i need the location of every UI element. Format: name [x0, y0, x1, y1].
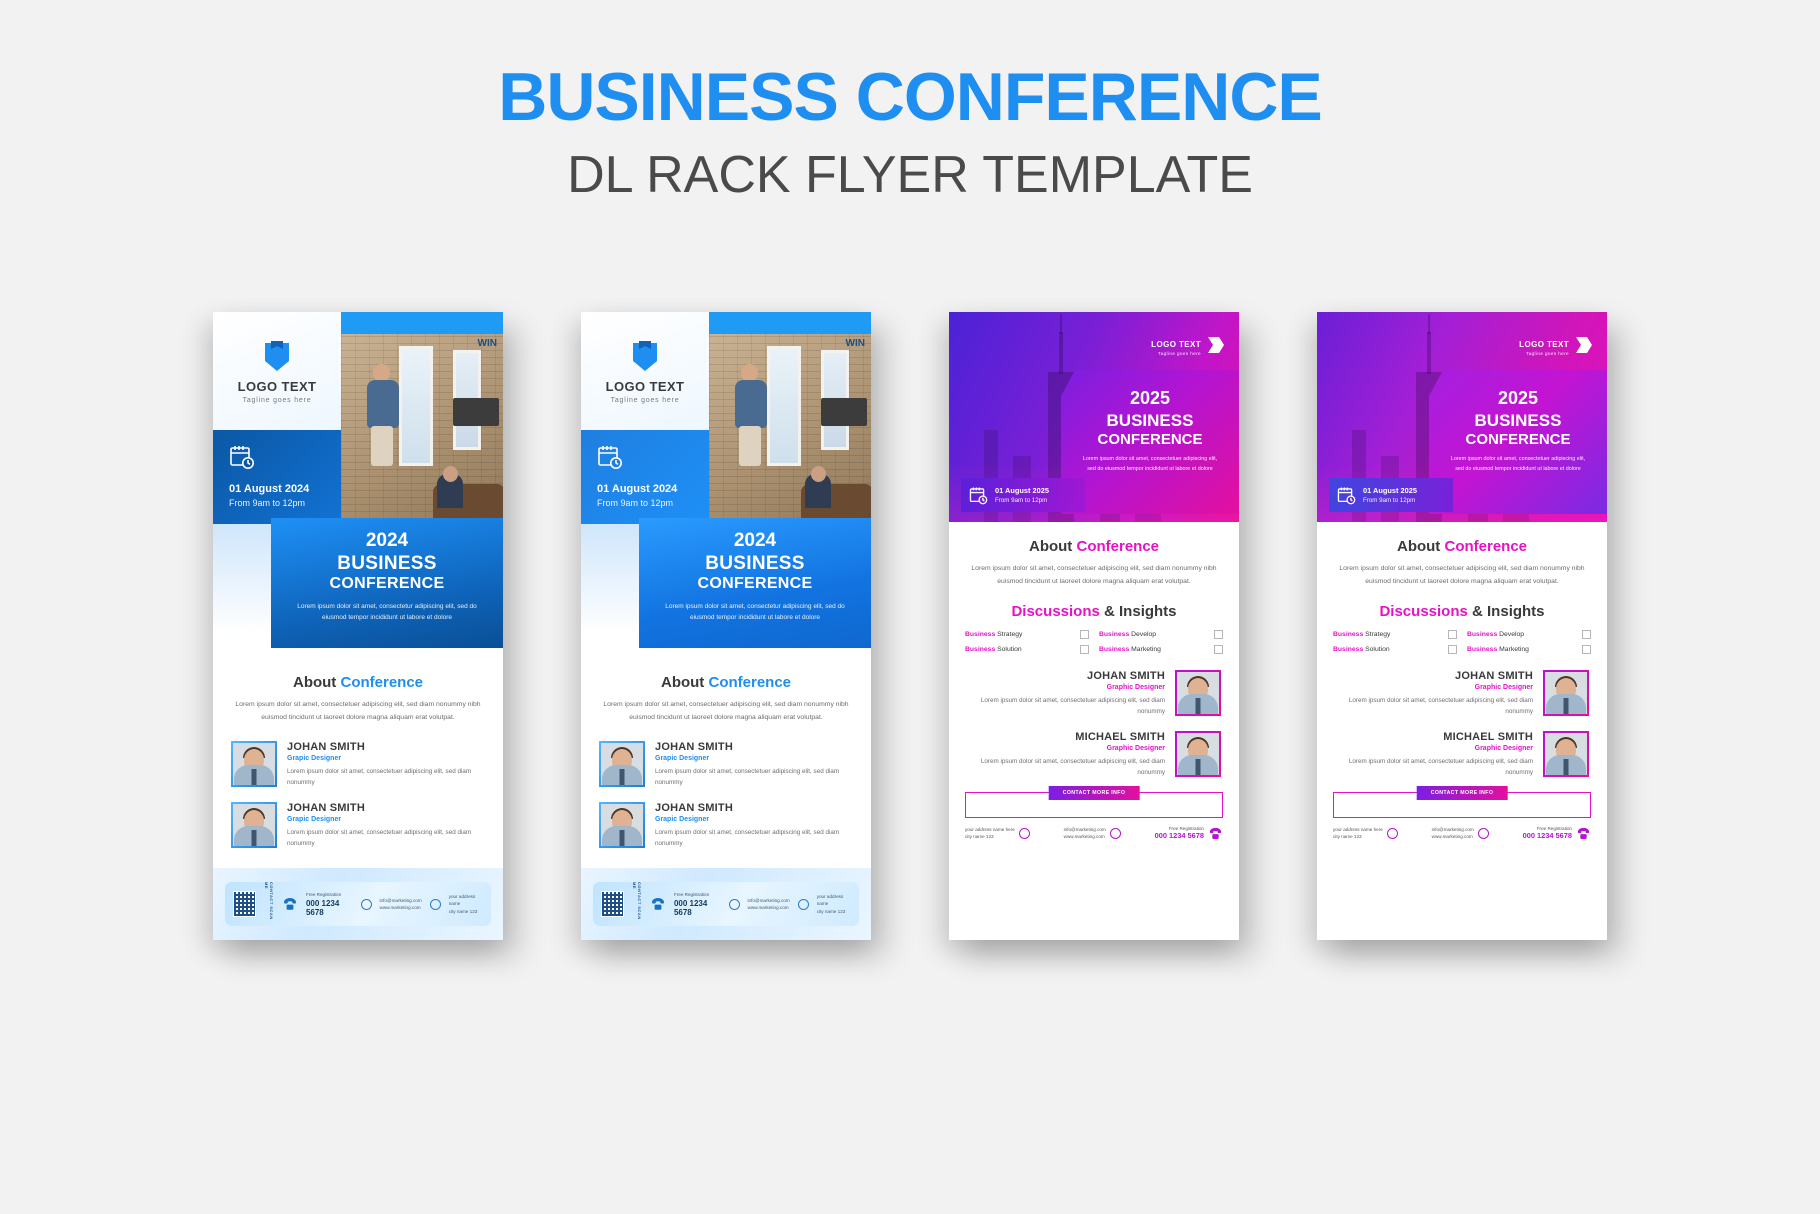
- date-panel: 01 August 2025 From 9am to 12pm: [1329, 478, 1453, 512]
- avatar: [599, 802, 645, 848]
- discussion-bold: Business: [1467, 631, 1497, 638]
- phone-icon: [1576, 826, 1591, 841]
- page-header: BUSINESS CONFERENCE DL RACK FLYER TEMPLA…: [0, 0, 1820, 205]
- discussion-chip-icon: [1448, 645, 1457, 654]
- speakers-list: JOHAN SMITH Graphic Designer Lorem ipsum…: [949, 670, 1239, 778]
- blue-footer: CONTACT SCAN ME Free Registration 000 12…: [213, 868, 503, 940]
- speakers-list: JOHAN SMITH Grapic Designer Lorem ipsum …: [581, 741, 871, 849]
- conference-photo: WIN: [709, 312, 871, 526]
- logo-text: LOGO TEXT: [1519, 340, 1569, 349]
- hero-paragraph: Lorem ipsum dolor sit amet, consectetuer…: [1079, 455, 1221, 474]
- avatar: [1175, 731, 1221, 777]
- discussions-title: Discussions & Insights: [1333, 603, 1591, 620]
- discussion-chip-icon: [1582, 645, 1591, 654]
- logo-icon: [261, 339, 293, 373]
- phone-block: Free Registration 000 1234 5678: [1523, 826, 1591, 841]
- speaker-role: Graphic Designer: [1335, 745, 1533, 752]
- footer-address-2: city name 123: [817, 908, 851, 915]
- discussions-title: Discussions & Insights: [965, 603, 1223, 620]
- discussion-item[interactable]: Business Solution: [1333, 645, 1457, 654]
- logo-panel: LOGO TEXT Tagline goes here: [213, 312, 341, 430]
- discussion-item[interactable]: Business Strategy: [1333, 630, 1457, 639]
- email-block: info@marketing.com www.marketing.com: [1064, 826, 1121, 841]
- event-date: 01 August 2024: [229, 483, 341, 495]
- flyer-purple-1[interactable]: LOGO TEXT Tagline goes here 2025 BUSINES…: [949, 312, 1239, 940]
- speaker-name: JOHAN SMITH: [287, 802, 485, 814]
- logo-panel: LOGO TEXT Tagline goes here: [581, 312, 709, 430]
- about-section: About Conference Lorem ipsum dolor sit a…: [949, 538, 1239, 589]
- discussion-bold: Business: [1333, 646, 1363, 653]
- speaker-desc: Lorem ipsum dolor sit amet, consectetuer…: [287, 766, 485, 788]
- footer-website[interactable]: www.marketing.com: [1432, 833, 1474, 840]
- speaker-card: MICHAEL SMITH Graphic Designer Lorem ips…: [1335, 731, 1589, 778]
- logo-tagline: Tagline goes here: [243, 397, 312, 404]
- contact-more-info-button[interactable]: CONTACT MORE INFO: [1049, 786, 1140, 800]
- about-title-black: About: [1397, 538, 1440, 555]
- hero-paragraph: Lorem ipsum dolor sit amet, consectetur …: [287, 601, 487, 624]
- calendar-clock-icon: [597, 457, 623, 474]
- footer-address-1: your address name: [449, 893, 483, 908]
- event-date: 01 August 2025: [1363, 486, 1417, 495]
- discussions-title-black: & Insights: [1104, 603, 1177, 620]
- discussion-rest: Develop: [1497, 631, 1524, 638]
- about-paragraph: Lorem ipsum dolor sit amet, consectetuer…: [597, 699, 855, 725]
- speaker-role: Graphic Designer: [967, 745, 1165, 752]
- discussion-bold: Business: [1099, 646, 1129, 653]
- speaker-card: JOHAN SMITH Graphic Designer Lorem ipsum…: [967, 670, 1221, 717]
- date-panel: 01 August 2024 From 9am to 12pm: [581, 430, 709, 530]
- hero-line1: BUSINESS: [655, 553, 855, 575]
- footer-address-2: city name 123: [449, 908, 483, 915]
- speaker-role: Graphic Designer: [1335, 684, 1533, 691]
- page-title: BUSINESS CONFERENCE: [0, 62, 1820, 133]
- discussion-bold: Business: [1467, 646, 1497, 653]
- logo-tagline: Tagline goes here: [1519, 351, 1569, 356]
- footer-website[interactable]: www.marketing.com: [380, 904, 422, 911]
- registration-label: Free Registration: [306, 891, 353, 898]
- speaker-desc: Lorem ipsum dolor sit amet, consectetuer…: [967, 695, 1165, 717]
- photo-attendee-head: [443, 466, 458, 482]
- speaker-name: JOHAN SMITH: [1335, 670, 1533, 682]
- hero-line1: BUSINESS: [1079, 411, 1221, 431]
- discussion-chip-icon: [1214, 630, 1223, 639]
- qr-code-icon[interactable]: [233, 891, 256, 917]
- hero-line2: CONFERENCE: [1079, 431, 1221, 448]
- location-pin-icon: [1019, 828, 1030, 839]
- speaker-desc: Lorem ipsum dolor sit amet, consectetuer…: [655, 827, 853, 849]
- calendar-clock-icon: [229, 457, 255, 474]
- contact-more-info-button[interactable]: CONTACT MORE INFO: [1417, 786, 1508, 800]
- hero-line1: BUSINESS: [287, 553, 487, 575]
- discussion-rest: Strategy: [1363, 631, 1390, 638]
- about-section: About Conference Lorem ipsum dolor sit a…: [1317, 538, 1607, 589]
- photo-win-sign: WIN: [478, 338, 497, 349]
- discussions-grid: Business Strategy Business Develop Busin…: [1333, 630, 1591, 654]
- speaker-desc: Lorem ipsum dolor sit amet, consectetuer…: [1335, 756, 1533, 778]
- discussion-rest: Marketing: [1497, 646, 1529, 653]
- qr-label: CONTACT SCAN ME: [264, 882, 274, 926]
- hero-year: 2024: [287, 530, 487, 552]
- event-date: 01 August 2025: [995, 486, 1049, 495]
- purple-footer: your address name here city name 123 inf…: [949, 818, 1239, 841]
- about-paragraph: Lorem ipsum dolor sit amet, consectetuer…: [229, 699, 487, 725]
- hero-paragraph: Lorem ipsum dolor sit amet, consectetur …: [655, 601, 855, 624]
- discussions-grid: Business Strategy Business Develop Busin…: [965, 630, 1223, 654]
- qr-code-icon[interactable]: [601, 891, 624, 917]
- about-title-black: About: [293, 674, 336, 691]
- page-subtitle: DL RACK FLYER TEMPLATE: [0, 145, 1820, 205]
- about-paragraph: Lorem ipsum dolor sit amet, consectetuer…: [965, 563, 1223, 589]
- footer-email[interactable]: info@marketing.com: [380, 897, 422, 904]
- logo-tagline: Tagline goes here: [1151, 351, 1201, 356]
- calendar-clock-icon: [1337, 486, 1356, 505]
- avatar: [1175, 670, 1221, 716]
- about-title: About Conference: [1333, 538, 1591, 555]
- flyer-purple-2[interactable]: LOGO TEXT Tagline goes here 2025 BUSINES…: [1317, 312, 1607, 940]
- discussion-rest: Develop: [1129, 631, 1156, 638]
- email-icon: [361, 899, 372, 910]
- event-time: From 9am to 12pm: [597, 498, 709, 508]
- discussion-item[interactable]: Business Strategy: [965, 630, 1089, 639]
- about-title-accent: Conference: [340, 674, 423, 691]
- speaker-name: JOHAN SMITH: [655, 741, 853, 753]
- conference-photo: WIN: [341, 312, 503, 526]
- speaker-card: JOHAN SMITH Graphic Designer Lorem ipsum…: [1335, 670, 1589, 717]
- footer-phone[interactable]: 000 1234 5678: [1155, 831, 1204, 840]
- about-title-black: About: [1029, 538, 1072, 555]
- discussion-bold: Business: [965, 646, 995, 653]
- flyer-blue-1[interactable]: WIN LOGO TEXT Tagline goes here: [213, 312, 503, 940]
- footer-address-1: your address name here: [965, 826, 1015, 833]
- purple-header: LOGO TEXT Tagline goes here 2025 BUSINES…: [1317, 312, 1607, 522]
- blue-header: WIN LOGO TEXT Tagline goes here: [581, 312, 871, 512]
- event-time: From 9am to 12pm: [995, 497, 1049, 504]
- address-block: your address name here city name 123: [1333, 826, 1398, 841]
- purple-footer: your address name here city name 123 inf…: [1317, 818, 1607, 841]
- discussion-chip-icon: [1214, 645, 1223, 654]
- discussion-item[interactable]: Business Marketing: [1099, 645, 1223, 654]
- about-title-accent: Conference: [1444, 538, 1527, 555]
- speaker-card: JOHAN SMITH Grapic Designer Lorem ipsum …: [599, 741, 853, 788]
- calendar-clock-icon: [969, 486, 988, 505]
- hero-line2: CONFERENCE: [1447, 431, 1589, 448]
- speaker-card: MICHAEL SMITH Graphic Designer Lorem ips…: [967, 731, 1221, 778]
- speaker-role: Graphic Designer: [967, 684, 1165, 691]
- discussion-item[interactable]: Business Develop: [1099, 630, 1223, 639]
- discussion-chip-icon: [1080, 645, 1089, 654]
- avatar: [231, 802, 277, 848]
- footer-phone[interactable]: 000 1234 5678: [306, 899, 353, 917]
- footer-email[interactable]: info@marketing.com: [1432, 826, 1474, 833]
- speaker-desc: Lorem ipsum dolor sit amet, consectetuer…: [1335, 695, 1533, 717]
- speaker-name: JOHAN SMITH: [967, 670, 1165, 682]
- hero-banner: 2025 BUSINESS CONFERENCE Lorem ipsum dol…: [1061, 370, 1239, 514]
- footer-phone[interactable]: 000 1234 5678: [1523, 831, 1572, 840]
- logo-text: LOGO TEXT: [606, 379, 685, 394]
- photo-speaker: [365, 364, 399, 484]
- hero-banner: 2025 BUSINESS CONFERENCE Lorem ipsum dol…: [1429, 370, 1607, 514]
- phone-icon: [1208, 826, 1223, 841]
- cta-frame: CONTACT MORE INFO: [1333, 792, 1591, 818]
- about-title: About Conference: [965, 538, 1223, 555]
- footer-bar: CONTACT SCAN ME Free Registration 000 12…: [593, 882, 859, 926]
- discussion-rest: Strategy: [995, 631, 1022, 638]
- footer-address-2: city name 123: [1333, 833, 1383, 840]
- speaker-name: JOHAN SMITH: [287, 741, 485, 753]
- photo-desk: [453, 398, 499, 426]
- logo-icon: [629, 339, 661, 373]
- avatar: [1543, 670, 1589, 716]
- avatar: [231, 741, 277, 787]
- discussion-rest: Solution: [995, 646, 1021, 653]
- logo-icon: [1575, 336, 1593, 359]
- event-date: 01 August 2024: [597, 483, 709, 495]
- footer-email[interactable]: info@marketing.com: [1064, 826, 1106, 833]
- speaker-role: Grapic Designer: [655, 816, 853, 823]
- logo-panel: LOGO TEXT Tagline goes here: [1151, 336, 1225, 359]
- discussions-title-accent: Discussions: [1379, 603, 1467, 620]
- email-icon: [1478, 828, 1489, 839]
- about-title-black: About: [661, 674, 704, 691]
- date-panel: 01 August 2024 From 9am to 12pm: [213, 430, 341, 530]
- speaker-name: MICHAEL SMITH: [967, 731, 1165, 743]
- footer-address-1: your address name here: [1333, 826, 1383, 833]
- speaker-card: JOHAN SMITH Grapic Designer Lorem ipsum …: [231, 741, 485, 788]
- phone-block: Free Registration 000 1234 5678: [1155, 826, 1223, 841]
- event-time: From 9am to 12pm: [1363, 497, 1417, 504]
- phone-icon: [650, 896, 666, 912]
- location-pin-icon: [430, 899, 441, 910]
- hero-year: 2024: [655, 530, 855, 552]
- flyer-gallery: WIN LOGO TEXT Tagline goes here: [0, 312, 1820, 952]
- hero-banner: 2024 BUSINESS CONFERENCE Lorem ipsum dol…: [271, 518, 503, 648]
- speaker-role: Grapic Designer: [655, 755, 853, 762]
- purple-header: LOGO TEXT Tagline goes here 2025 BUSINES…: [949, 312, 1239, 522]
- address-block: your address name here city name 123: [965, 826, 1030, 841]
- about-section: About Conference Lorem ipsum dolor sit a…: [581, 674, 871, 725]
- location-pin-icon: [798, 899, 809, 910]
- email-icon: [1110, 828, 1121, 839]
- speaker-card: JOHAN SMITH Grapic Designer Lorem ipsum …: [231, 802, 485, 849]
- discussions-section: Discussions & Insights Business Strategy…: [949, 603, 1239, 654]
- discussion-item[interactable]: Business Solution: [965, 645, 1089, 654]
- discussion-chip-icon: [1448, 630, 1457, 639]
- photo-sky: [341, 312, 503, 334]
- speaker-name: JOHAN SMITH: [655, 802, 853, 814]
- discussion-bold: Business: [1333, 631, 1363, 638]
- speaker-desc: Lorem ipsum dolor sit amet, consectetuer…: [967, 756, 1165, 778]
- speaker-name: MICHAEL SMITH: [1335, 731, 1533, 743]
- date-panel: 01 August 2025 From 9am to 12pm: [961, 478, 1085, 512]
- blue-footer: CONTACT SCAN ME Free Registration 000 12…: [581, 868, 871, 940]
- hero-line2: CONFERENCE: [655, 575, 855, 593]
- logo-text: LOGO TEXT: [238, 379, 317, 394]
- speaker-role: Grapic Designer: [287, 755, 485, 762]
- footer-address-1: your address name: [817, 893, 851, 908]
- logo-icon: [1207, 336, 1225, 359]
- flyer-blue-2[interactable]: WIN LOGO TEXT Tagline goes here: [581, 312, 871, 940]
- photo-window-1: [399, 346, 433, 466]
- about-paragraph: Lorem ipsum dolor sit amet, consectetuer…: [1333, 563, 1591, 589]
- email-icon: [729, 899, 740, 910]
- discussion-chip-icon: [1582, 630, 1591, 639]
- footer-address-2: city name 123: [965, 833, 1015, 840]
- about-section: About Conference Lorem ipsum dolor sit a…: [213, 674, 503, 725]
- hero-year: 2025: [1079, 388, 1221, 409]
- hero-banner: 2024 BUSINESS CONFERENCE Lorem ipsum dol…: [639, 518, 871, 648]
- hero-line2: CONFERENCE: [287, 575, 487, 593]
- speaker-role: Grapic Designer: [287, 816, 485, 823]
- discussions-title-accent: Discussions: [1011, 603, 1099, 620]
- discussion-chip-icon: [1080, 630, 1089, 639]
- speakers-list: JOHAN SMITH Graphic Designer Lorem ipsum…: [1317, 670, 1607, 778]
- footer-bar: CONTACT SCAN ME Free Registration 000 12…: [225, 882, 491, 926]
- about-title-accent: Conference: [708, 674, 791, 691]
- footer-email[interactable]: info@marketing.com: [748, 897, 790, 904]
- qr-label: CONTACT SCAN ME: [632, 882, 642, 926]
- hero-paragraph: Lorem ipsum dolor sit amet, consectetuer…: [1447, 455, 1589, 474]
- speakers-list: JOHAN SMITH Grapic Designer Lorem ipsum …: [213, 741, 503, 849]
- logo-text: LOGO TEXT: [1151, 340, 1201, 349]
- avatar: [599, 741, 645, 787]
- email-block: info@marketing.com www.marketing.com: [1432, 826, 1489, 841]
- avatar: [1543, 731, 1589, 777]
- logo-tagline: Tagline goes here: [611, 397, 680, 404]
- footer-website[interactable]: www.marketing.com: [1064, 833, 1106, 840]
- hero-line1: BUSINESS: [1447, 411, 1589, 431]
- discussions-section: Discussions & Insights Business Strategy…: [1317, 603, 1607, 654]
- phone-icon: [282, 896, 298, 912]
- speaker-desc: Lorem ipsum dolor sit amet, consectetuer…: [655, 766, 853, 788]
- about-title: About Conference: [597, 674, 855, 691]
- logo-panel: LOGO TEXT Tagline goes here: [1519, 336, 1593, 359]
- discussion-bold: Business: [1099, 631, 1129, 638]
- registration-label: Free Registration: [674, 891, 721, 898]
- footer-phone[interactable]: 000 1234 5678: [674, 899, 721, 917]
- event-time: From 9am to 12pm: [229, 498, 341, 508]
- speaker-card: JOHAN SMITH Grapic Designer Lorem ipsum …: [599, 802, 853, 849]
- about-title-accent: Conference: [1076, 538, 1159, 555]
- discussion-rest: Solution: [1363, 646, 1389, 653]
- hero-year: 2025: [1447, 388, 1589, 409]
- discussion-item[interactable]: Business Develop: [1467, 630, 1591, 639]
- blue-header: WIN LOGO TEXT Tagline goes here: [213, 312, 503, 512]
- about-title: About Conference: [229, 674, 487, 691]
- cta-frame: CONTACT MORE INFO: [965, 792, 1223, 818]
- footer-website[interactable]: www.marketing.com: [748, 904, 790, 911]
- discussion-item[interactable]: Business Marketing: [1467, 645, 1591, 654]
- location-pin-icon: [1387, 828, 1398, 839]
- discussion-rest: Marketing: [1129, 646, 1161, 653]
- speaker-desc: Lorem ipsum dolor sit amet, consectetuer…: [287, 827, 485, 849]
- discussions-title-black: & Insights: [1472, 603, 1545, 620]
- discussion-bold: Business: [965, 631, 995, 638]
